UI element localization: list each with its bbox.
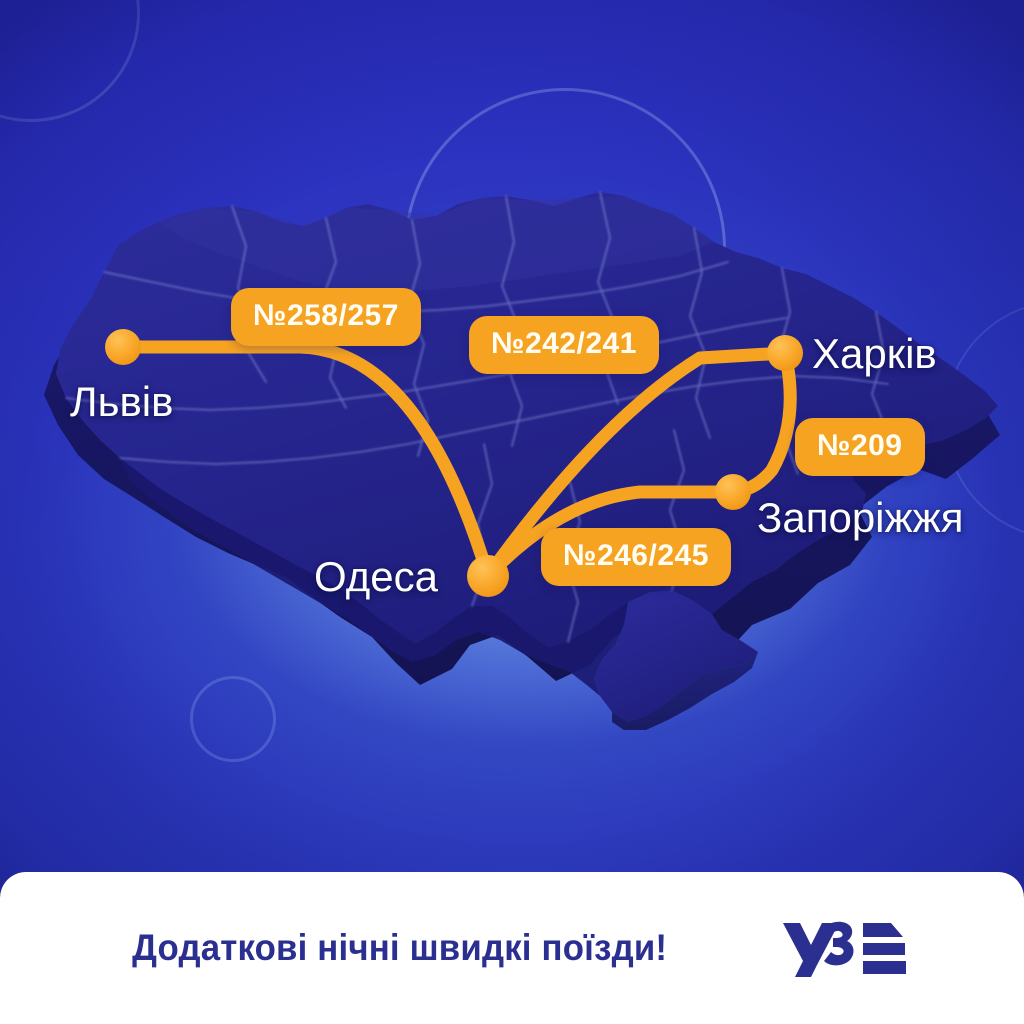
city-dot-lviv <box>105 329 141 365</box>
city-label-odesa: Одеса <box>314 553 438 601</box>
city-label-zaporizhzhia: Запоріжжя <box>757 494 963 542</box>
route-badge-lviv-odesa[interactable]: №258/257 <box>231 288 421 346</box>
route-badge-kharkiv-zaporizhzhia[interactable]: №209 <box>795 418 925 476</box>
uz-ukrzaliznytsia-logo <box>781 917 909 979</box>
bottom-banner: Додаткові нічні швидкі поїзди! <box>0 872 1024 1024</box>
banner-headline: Додаткові нічні швидкі поїзди! <box>132 927 667 969</box>
city-dot-odesa <box>467 555 509 597</box>
poster-canvas: Львів Харків Запоріжжя Одеса №258/257 №2… <box>0 0 1024 1024</box>
city-dot-zaporizhzhia <box>715 474 751 510</box>
city-dot-kharkiv <box>767 335 803 371</box>
city-label-lviv: Львів <box>70 378 173 426</box>
city-label-kharkiv: Харків <box>812 330 937 378</box>
route-badge-odesa-zaporizhzhia[interactable]: №246/245 <box>541 528 731 586</box>
route-badge-odesa-kharkiv[interactable]: №242/241 <box>469 316 659 374</box>
